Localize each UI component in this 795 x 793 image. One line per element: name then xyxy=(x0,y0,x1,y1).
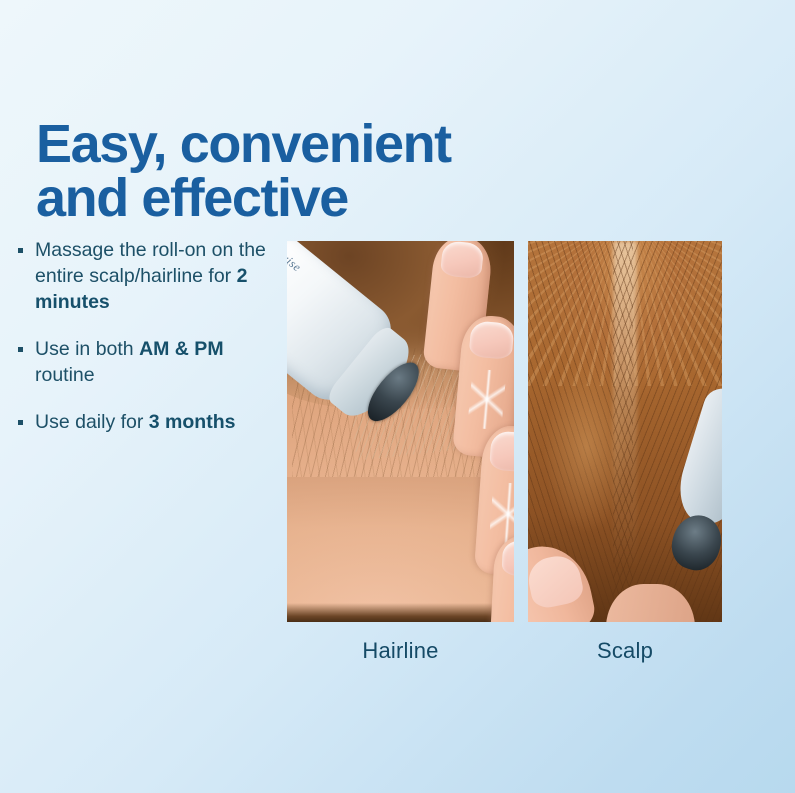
hair-highlight xyxy=(544,363,629,531)
bullet-square-icon xyxy=(18,420,23,425)
caption-hairline: Hairline xyxy=(287,638,514,664)
caption-scalp: Scalp xyxy=(528,638,722,664)
instruction-text-3b: 3 months xyxy=(149,411,236,433)
page-title-line-2: and effective xyxy=(36,172,596,225)
instruction-text-1a: Massage the roll-on on the entire scalp/… xyxy=(35,239,266,287)
instruction-text-3a: Use daily for xyxy=(35,411,149,433)
fingernail xyxy=(489,430,514,472)
scalp-photo xyxy=(528,241,722,622)
bullet-square-icon xyxy=(18,248,23,253)
instruction-text-2c: routine xyxy=(35,364,95,386)
hand xyxy=(405,241,514,622)
list-item: Massage the roll-on on the entire scalp/… xyxy=(18,238,284,316)
instruction-text-2a: Use in both xyxy=(35,338,139,360)
nail-sparkle xyxy=(467,368,506,430)
list-item: Use daily for 3 months xyxy=(18,410,284,436)
fingernail xyxy=(440,241,484,280)
fingernail xyxy=(501,540,514,577)
page-title: Easy, convenient and effective xyxy=(36,118,596,225)
list-item: Use in both AM & PM routine xyxy=(18,337,284,389)
instruction-text-2b: AM & PM xyxy=(139,338,224,360)
promo-panel: Easy, convenient and effective Massage t… xyxy=(0,0,795,793)
page-title-line-1: Easy, convenient xyxy=(36,118,596,171)
product-brand-label: vise xyxy=(287,250,304,275)
fingernail xyxy=(469,320,514,360)
instruction-list: Massage the roll-on on the entire scalp/… xyxy=(18,238,284,436)
nail-sparkle xyxy=(489,481,514,546)
hairline-photo: vise xyxy=(287,241,514,622)
bullet-square-icon xyxy=(18,347,23,352)
